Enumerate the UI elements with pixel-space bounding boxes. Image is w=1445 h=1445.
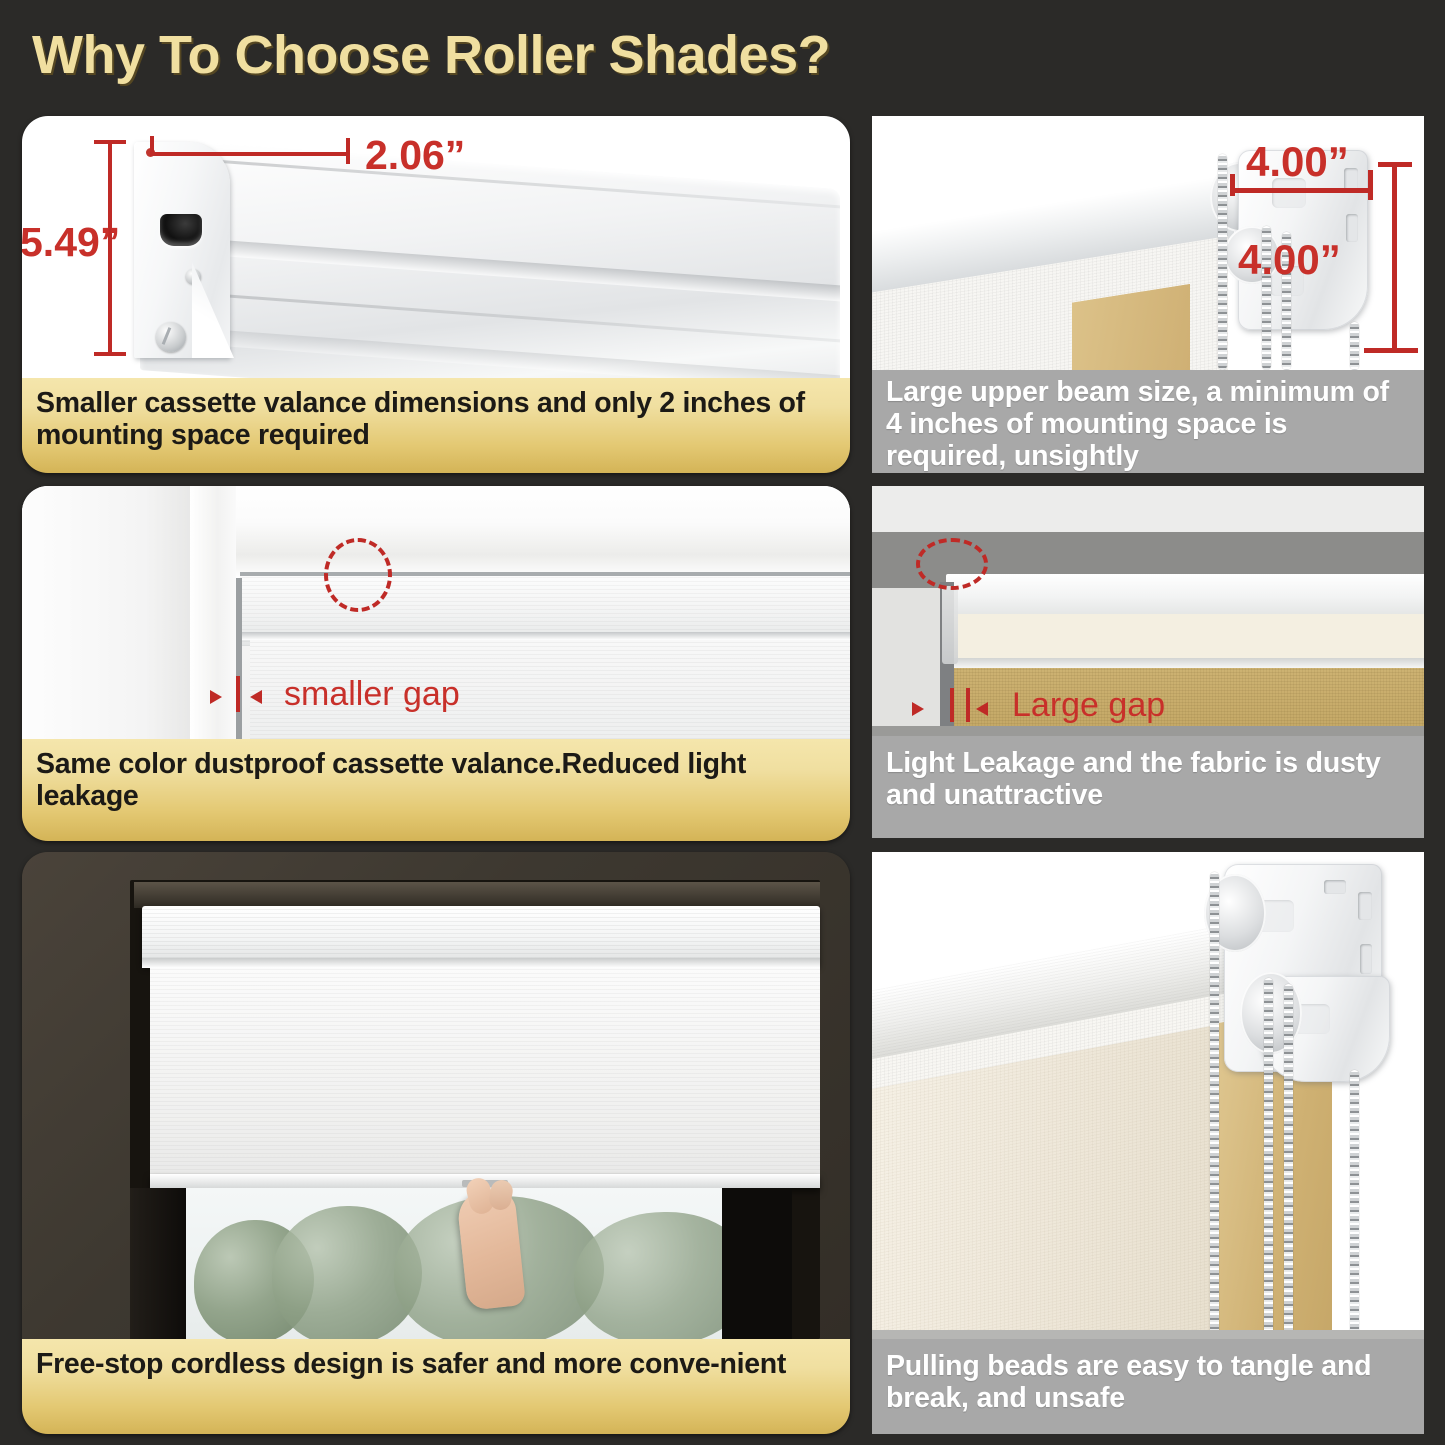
valance-lip bbox=[142, 958, 820, 968]
screw-icon bbox=[186, 269, 201, 284]
window-frame-top bbox=[190, 486, 850, 578]
window-jamb-left bbox=[130, 1188, 186, 1339]
height-dimension-tick-bottom bbox=[1364, 348, 1418, 353]
height-dimension-tick-top bbox=[1378, 162, 1412, 167]
panel-cassette-valance-dimensions: 2.06” 5.49” Smaller cassette valance dim… bbox=[22, 116, 850, 473]
cord-slot-icon bbox=[160, 214, 202, 246]
shade-fabric bbox=[150, 968, 820, 1178]
height-dimension-line bbox=[1392, 162, 1397, 352]
valance-lip bbox=[240, 632, 850, 640]
bead-chain bbox=[1264, 978, 1273, 1339]
gap-arrow-left-icon bbox=[250, 690, 262, 704]
panel-caption: Smaller cassette valance dimensions and … bbox=[22, 378, 850, 473]
floor-band bbox=[872, 726, 1424, 736]
window-mullion bbox=[722, 1188, 792, 1339]
bead-chain bbox=[1350, 1070, 1359, 1339]
bead-chain bbox=[1210, 872, 1219, 1339]
page-title: Why To Choose Roller Shades? bbox=[32, 24, 830, 86]
screw-icon bbox=[156, 322, 186, 352]
gap-label: smaller gap bbox=[284, 675, 460, 714]
width-dimension-label: 4.00” bbox=[1246, 138, 1349, 186]
panel-caption: Light Leakage and the fabric is dusty an… bbox=[872, 736, 1424, 838]
photo-large-roller-beam: 4.00” 4.00” bbox=[872, 116, 1424, 370]
bead-chain bbox=[1284, 984, 1293, 1339]
width-dimension-tick-right bbox=[346, 138, 350, 164]
bead-chain bbox=[1218, 154, 1227, 370]
valance-end-cap-graphic bbox=[134, 142, 230, 358]
bracket-slot-icon bbox=[1358, 892, 1372, 920]
width-dimension-line bbox=[1232, 188, 1372, 193]
comparison-grid: 2.06” 5.49” Smaller cassette valance dim… bbox=[0, 108, 1445, 1445]
gap-arrow-right-icon bbox=[210, 690, 222, 704]
cassette-valance bbox=[142, 906, 820, 966]
cream-fabric-band bbox=[954, 614, 1424, 662]
gap-arrow-right-icon bbox=[912, 702, 924, 716]
window-casing-top bbox=[134, 882, 820, 908]
gap-marker-line bbox=[966, 688, 970, 722]
photo-bead-chain-shade bbox=[872, 852, 1424, 1339]
width-dimension-tick-left bbox=[150, 136, 154, 156]
fabric-bar bbox=[954, 658, 1424, 668]
floor-band bbox=[872, 1330, 1424, 1339]
highlight-circle-icon bbox=[916, 538, 988, 590]
bead-chain bbox=[1350, 322, 1359, 370]
photo-window-frame-smaller-gap: smaller gap bbox=[22, 486, 850, 739]
bracket-slot-icon bbox=[1324, 880, 1346, 894]
width-dimension-label: 2.06” bbox=[365, 132, 465, 179]
photo-cassette-valance-profile: 2.06” 5.49” bbox=[22, 116, 850, 378]
panel-pulling-beads: Pulling beads are easy to tangle and bre… bbox=[872, 852, 1424, 1434]
height-dimension-tick-top bbox=[94, 140, 126, 144]
panel-caption: Large upper beam size, a minimum of 4 in… bbox=[872, 370, 1424, 473]
highlight-circle-icon bbox=[324, 538, 392, 612]
gap-arrow-left-icon bbox=[976, 702, 988, 716]
gap-label: Large gap bbox=[1012, 686, 1165, 725]
height-dimension-tick-bottom bbox=[94, 352, 126, 356]
gap-shadow bbox=[236, 578, 242, 739]
photo-room-window-shade bbox=[22, 852, 850, 1339]
gap-marker-line bbox=[950, 688, 954, 722]
bracket-slot-icon bbox=[1346, 214, 1358, 242]
width-dimension-tick-left bbox=[1230, 174, 1235, 196]
panel-cordless-design: Free-stop cordless design is safer and m… bbox=[22, 852, 850, 1434]
width-dimension-tick-right bbox=[1368, 170, 1373, 200]
panel-caption: Same color dustproof cassette valance.Re… bbox=[22, 739, 850, 841]
panel-large-gap: Large gap Light Leakage and the fabric i… bbox=[872, 486, 1424, 838]
panel-large-upper-beam: 4.00” 4.00” Large upper beam size, a min… bbox=[872, 116, 1424, 473]
width-dimension-line bbox=[152, 152, 350, 156]
panel-smaller-gap: smaller gap Same color dustproof cassett… bbox=[22, 486, 850, 841]
valance-body-graphic bbox=[140, 138, 840, 378]
wall-surface bbox=[872, 486, 1424, 532]
height-dimension-label: 5.49” bbox=[22, 219, 120, 266]
end-bracket-graphic bbox=[942, 586, 958, 664]
panel-caption: Pulling beads are easy to tangle and bre… bbox=[872, 1339, 1424, 1434]
panel-caption: Free-stop cordless design is safer and m… bbox=[22, 1339, 850, 1434]
gap-marker-line bbox=[236, 676, 240, 712]
photo-light-leak-large-gap: Large gap bbox=[872, 486, 1424, 736]
height-dimension-label: 4.00” bbox=[1238, 236, 1341, 284]
wall-surface bbox=[22, 486, 197, 739]
bracket-slot-icon bbox=[1360, 944, 1372, 974]
